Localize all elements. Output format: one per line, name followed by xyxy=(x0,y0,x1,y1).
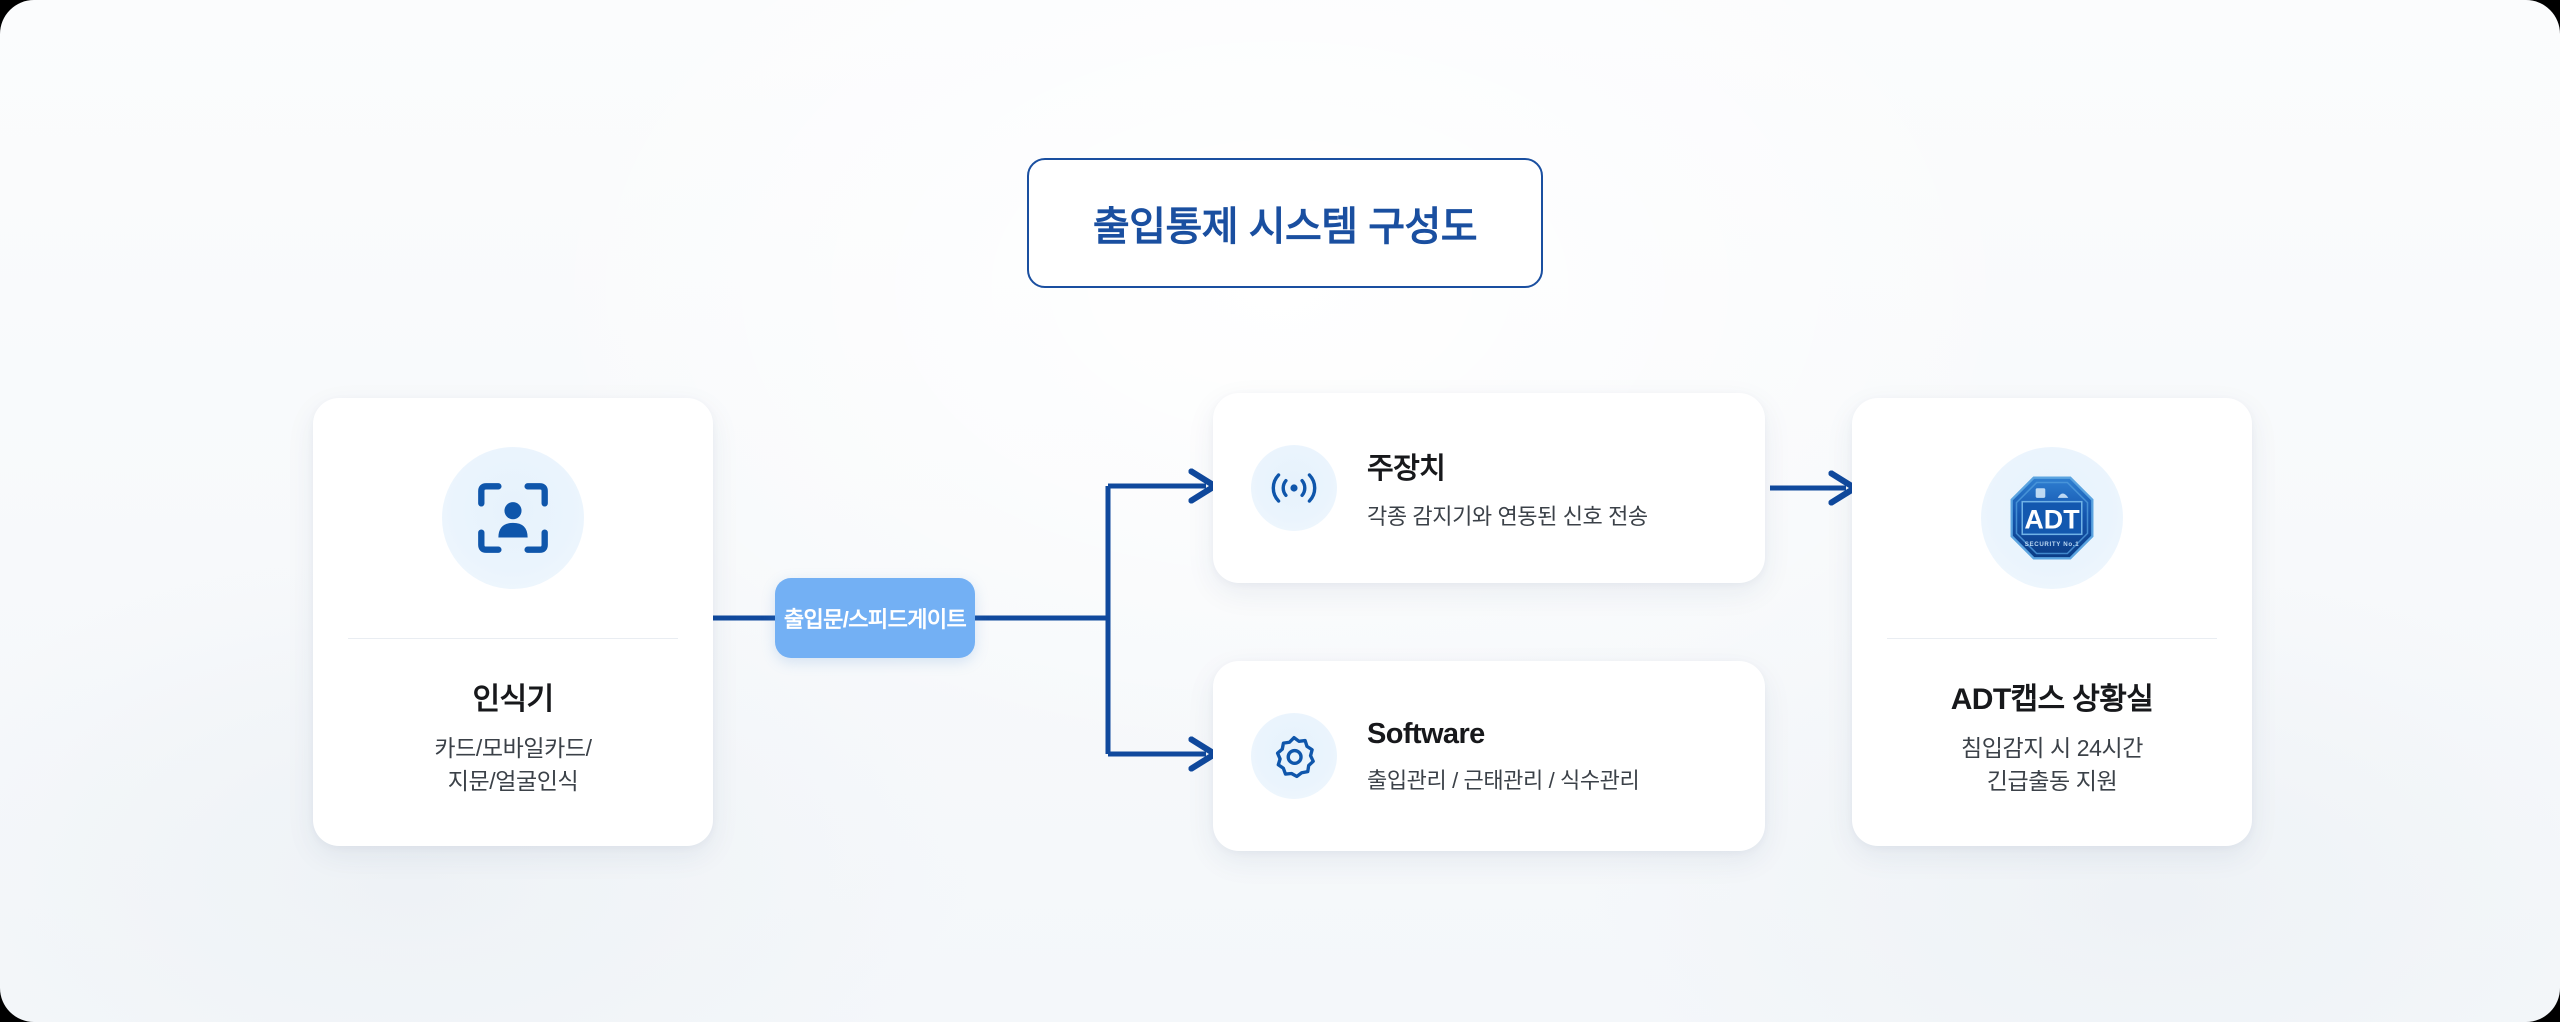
card-reader-description: 카드/모바일카드/ 지문/얼굴인식 xyxy=(434,732,591,797)
card-software-title: Software xyxy=(1367,718,1639,751)
card-main-device[interactable]: 주장치 각종 감지기와 연동된 신호 전송 xyxy=(1213,393,1765,583)
card-control-room[interactable]: ADT SECURITY No.1 ADT캡스 상황실 침입감지 시 24시간 … xyxy=(1852,398,2252,846)
diagram-title-box: 출입통제 시스템 구성도 xyxy=(1027,158,1543,288)
card-reader[interactable]: 인식기 카드/모바일카드/ 지문/얼굴인식 xyxy=(313,398,713,846)
card-reader-desc-line-2: 지문/얼굴인식 xyxy=(434,765,591,798)
diagram-canvas: 출입통제 시스템 구성도 xyxy=(0,0,2560,1022)
card-software-description: 출입관리 / 근태관리 / 식수관리 xyxy=(1367,763,1639,795)
card-control-room-title: ADT캡스 상황실 xyxy=(1951,674,2154,718)
card-control-room-text-area: ADT캡스 상황실 침입감지 시 24시간 긴급출동 지원 xyxy=(1852,639,2252,846)
face-scan-icon xyxy=(442,447,584,589)
gear-icon xyxy=(1251,713,1337,799)
adt-logo-icon: ADT SECURITY No.1 xyxy=(1981,447,2123,589)
card-main-device-description: 각종 감지기와 연동된 신호 전송 xyxy=(1367,499,1648,531)
card-reader-title: 인식기 xyxy=(473,674,554,718)
card-main-device-title: 주장치 xyxy=(1367,445,1648,487)
adt-logo-subtext: SECURITY No.1 xyxy=(2025,541,2080,548)
gate-chip-label: 출입문/스피드게이트 xyxy=(784,602,966,634)
card-control-room-desc-line-2: 긴급출동 지원 xyxy=(1961,765,2143,798)
card-control-room-description: 침입감지 시 24시간 긴급출동 지원 xyxy=(1961,732,2143,797)
card-main-device-texts: 주장치 각종 감지기와 연동된 신호 전송 xyxy=(1367,445,1648,531)
card-software[interactable]: Software 출입관리 / 근태관리 / 식수관리 xyxy=(1213,661,1765,851)
gate-chip[interactable]: 출입문/스피드게이트 xyxy=(775,578,975,658)
page-title: 출입통제 시스템 구성도 xyxy=(1093,194,1477,252)
card-reader-text-area: 인식기 카드/모바일카드/ 지문/얼굴인식 xyxy=(313,639,713,846)
card-main-device-icon-wrap xyxy=(1251,445,1337,531)
card-software-icon-wrap xyxy=(1251,713,1337,799)
card-control-room-desc-line-1: 침입감지 시 24시간 xyxy=(1961,732,2143,765)
card-software-texts: Software 출입관리 / 근태관리 / 식수관리 xyxy=(1367,718,1639,795)
card-control-room-icon-area: ADT SECURITY No.1 xyxy=(1852,398,2252,638)
adt-logo-text: ADT xyxy=(2024,505,2080,535)
card-reader-desc-line-1: 카드/모바일카드/ xyxy=(434,732,591,765)
signal-broadcast-icon xyxy=(1251,445,1337,531)
card-reader-icon-area xyxy=(313,398,713,638)
